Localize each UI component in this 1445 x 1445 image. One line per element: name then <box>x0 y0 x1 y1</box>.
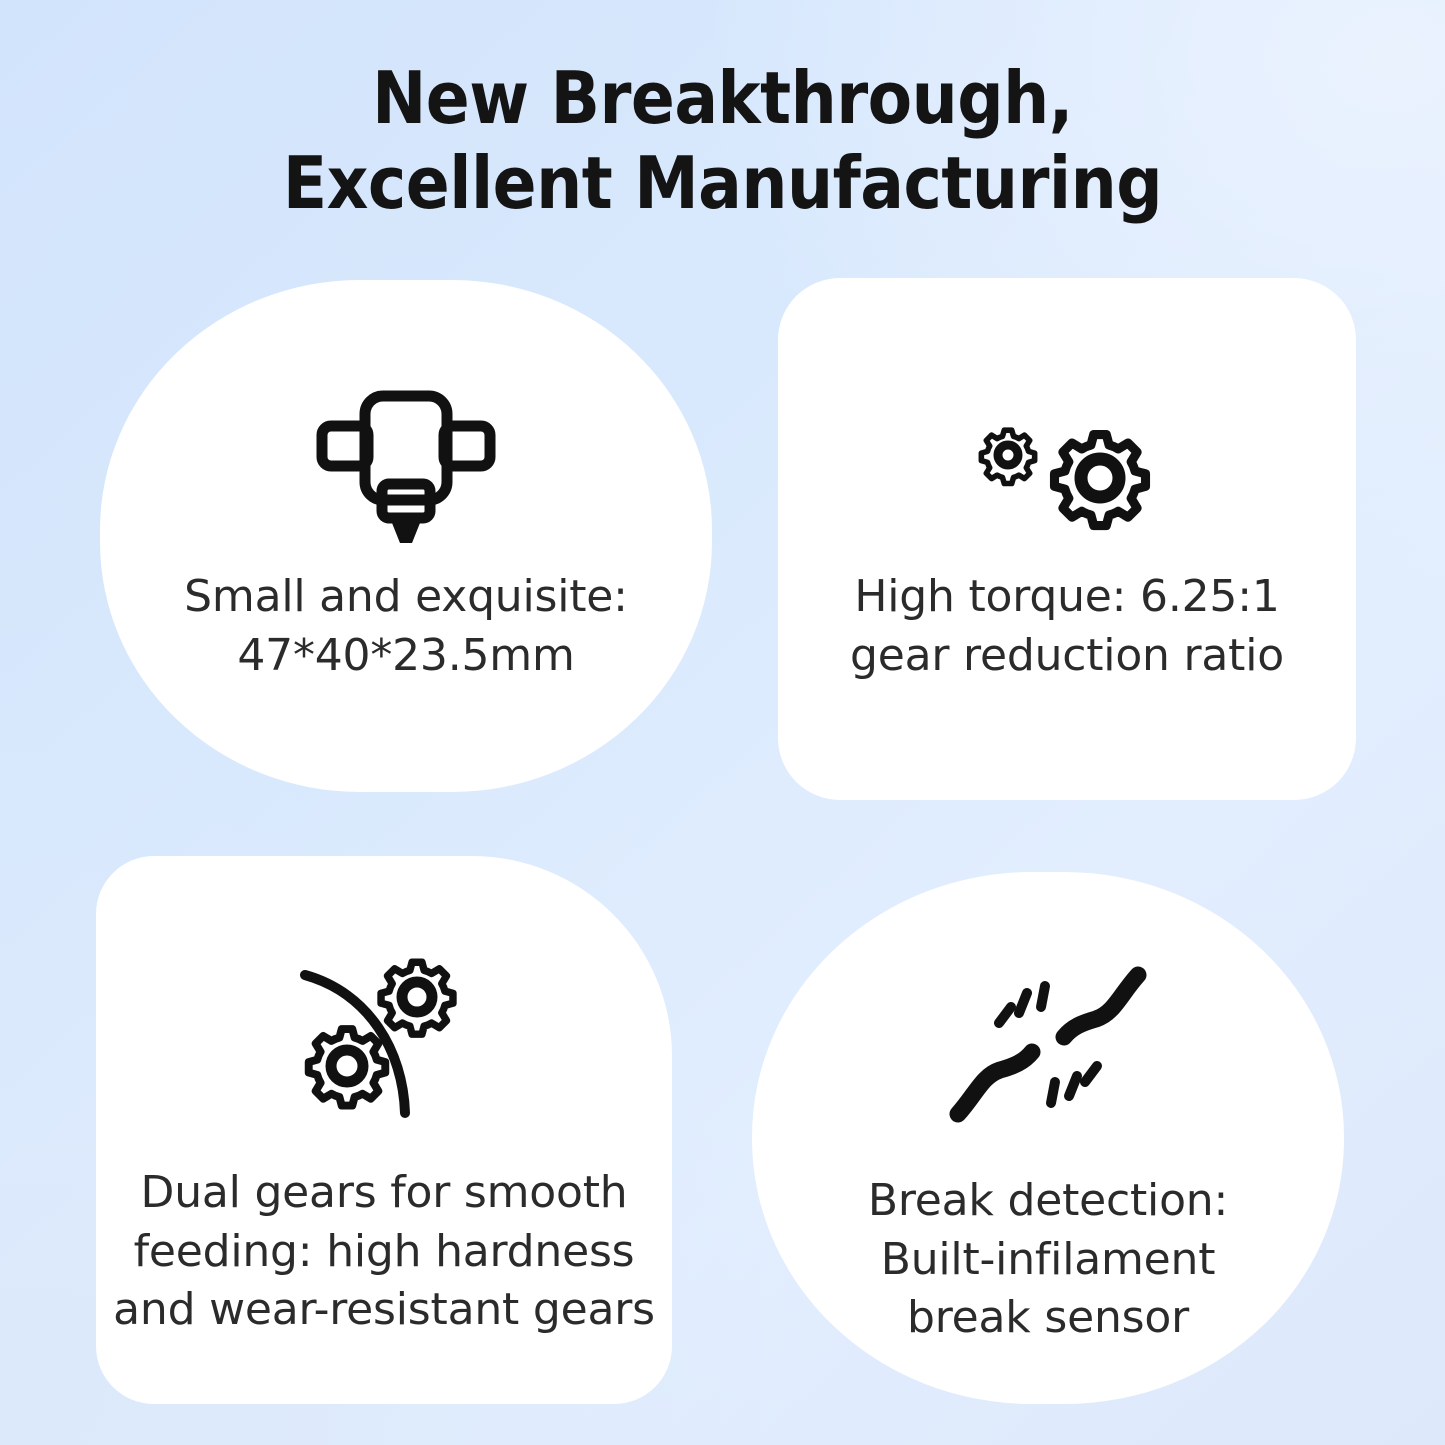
feature-card-dual-gears: Dual gears for smooth feeding: high hard… <box>96 856 672 1404</box>
page-title-line-2: Excellent Manufacturing <box>0 141 1445 226</box>
nozzle-shape <box>390 518 422 543</box>
icon-container <box>96 934 672 1144</box>
page-title-line-1: New Breakthrough, <box>0 56 1445 141</box>
caption-line-3: break sensor <box>752 1289 1344 1348</box>
feature-card-small-size: Small and exquisite: 47*40*23.5mm <box>100 280 712 792</box>
icon-container <box>778 388 1356 568</box>
caption-line-1: Small and exquisite: <box>100 568 712 627</box>
caption-line-2: 47*40*23.5mm <box>100 627 712 686</box>
caption-line-1: Break detection: <box>752 1172 1344 1231</box>
gear-upper-shape <box>381 962 453 1034</box>
icon-container <box>752 944 1344 1144</box>
extruder-icon <box>306 382 506 552</box>
caption-line-2: gear reduction ratio <box>778 627 1356 686</box>
large-gear-shape <box>1054 435 1145 526</box>
caption-line-1: High torque: 6.25:1 <box>778 568 1356 627</box>
feature-caption: Dual gears for smooth feeding: high hard… <box>96 1164 672 1340</box>
small-gear-shape <box>981 430 1034 483</box>
break-spark-marks <box>999 986 1097 1103</box>
feature-caption: Break detection: Built-infilament break … <box>752 1172 1344 1348</box>
feature-card-break-detection: Break detection: Built-infilament break … <box>752 872 1344 1404</box>
page-title: New Breakthrough, Excellent Manufacturin… <box>0 56 1445 226</box>
feature-caption: Small and exquisite: 47*40*23.5mm <box>100 568 712 685</box>
caption-line-2: Built-infilament <box>752 1231 1344 1290</box>
filament-upper-strand <box>1064 975 1138 1037</box>
dual-gears-arc-icon <box>277 949 492 1129</box>
caption-line-3: and wear-resistant gears <box>96 1281 672 1340</box>
feature-card-high-torque: High torque: 6.25:1 gear reduction ratio <box>778 278 1356 800</box>
filament-break-icon <box>948 957 1148 1132</box>
feature-caption: High torque: 6.25:1 gear reduction ratio <box>778 568 1356 685</box>
caption-line-1: Dual gears for smooth <box>96 1164 672 1223</box>
icon-container <box>100 372 712 562</box>
two-gears-icon <box>960 408 1175 548</box>
filament-lower-strand <box>958 1052 1032 1114</box>
caption-line-2: feeding: high hardness <box>96 1223 672 1282</box>
gear-lower-shape <box>308 1029 385 1106</box>
promo-poster: New Breakthrough, Excellent Manufacturin… <box>0 0 1445 1445</box>
